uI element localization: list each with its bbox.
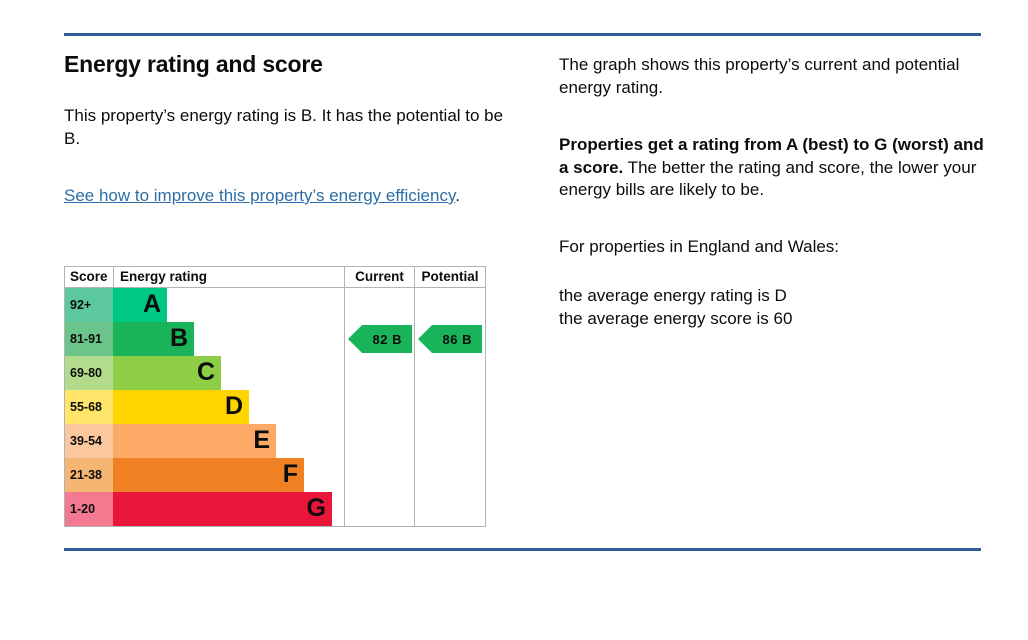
band-letter: G (307, 492, 326, 525)
region-label: For properties in England and Wales: (559, 236, 984, 259)
average-rating-text: the average energy rating is D (559, 285, 984, 308)
band-letter: F (283, 458, 298, 491)
band-bar: D (113, 390, 249, 424)
band-score-range: 92+ (65, 288, 113, 322)
improve-efficiency-paragraph: See how to improve this property’s energ… (64, 185, 504, 208)
current-column-divider (344, 288, 345, 526)
epc-table-body: 92+A81-91B69-80C55-68D39-54E21-38F1-20G … (65, 288, 485, 526)
epc-band-row: 39-54E (65, 424, 344, 458)
epc-band-row: 92+A (65, 288, 344, 322)
band-score-range: 81-91 (65, 322, 113, 356)
property-rating-summary: This property’s energy rating is B. It h… (64, 105, 504, 150)
band-bar: G (113, 492, 332, 526)
link-suffix-period: . (455, 186, 460, 205)
left-column: Energy rating and score This property’s … (64, 50, 504, 208)
band-letter: B (170, 322, 188, 355)
band-letter: D (225, 390, 243, 423)
potential-rating-label: 86 B (443, 332, 472, 347)
epc-band-row: 81-91B (65, 322, 344, 356)
band-bar: C (113, 356, 221, 390)
band-bar: F (113, 458, 304, 492)
epc-rating-chart: Score Energy rating Current Potential 92… (64, 266, 486, 527)
column-header-score: Score (65, 267, 113, 287)
potential-column-divider (414, 288, 415, 526)
epc-energy-rating-page: Energy rating and score This property’s … (0, 0, 1028, 640)
spacer-3 (559, 258, 984, 285)
epc-band-row: 1-20G (65, 492, 344, 526)
top-divider-rule (64, 33, 981, 36)
band-letter: C (197, 356, 215, 389)
band-score-range: 1-20 (65, 492, 113, 526)
band-bar: B (113, 322, 194, 356)
band-score-range: 21-38 (65, 458, 113, 492)
epc-table-header: Score Energy rating Current Potential (65, 267, 485, 288)
band-bar: E (113, 424, 276, 458)
spacer-2 (559, 202, 984, 236)
graph-intro-text: The graph shows this property’s current … (559, 54, 984, 99)
band-score-range: 39-54 (65, 424, 113, 458)
column-header-current: Current (344, 267, 414, 287)
epc-band-row: 55-68D (65, 390, 344, 424)
average-score-text: the average energy score is 60 (559, 308, 984, 331)
bottom-divider-rule (64, 548, 981, 551)
epc-band-row: 21-38F (65, 458, 344, 492)
band-letter: A (143, 288, 161, 321)
band-letter: E (253, 424, 270, 457)
spacer-1 (559, 99, 984, 134)
improve-efficiency-link[interactable]: See how to improve this property’s energ… (64, 186, 455, 205)
column-header-potential: Potential (414, 267, 485, 287)
current-rating-label: 82 B (373, 332, 402, 347)
epc-band-list: 92+A81-91B69-80C55-68D39-54E21-38F1-20G (65, 288, 485, 526)
column-header-energy-rating: Energy rating (113, 267, 344, 287)
page-title: Energy rating and score (64, 50, 504, 78)
epc-band-row: 69-80C (65, 356, 344, 390)
rating-explanation-text: Properties get a rating from A (best) to… (559, 134, 984, 202)
band-score-range: 55-68 (65, 390, 113, 424)
right-column: The graph shows this property’s current … (559, 54, 984, 330)
band-bar: A (113, 288, 167, 322)
band-score-range: 69-80 (65, 356, 113, 390)
